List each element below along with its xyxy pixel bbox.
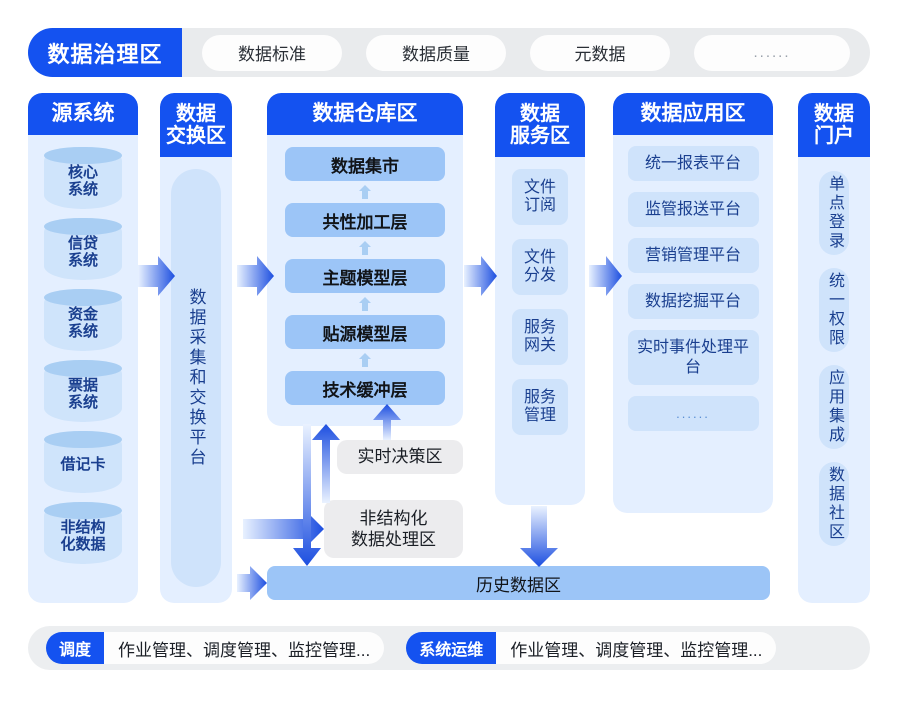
portal-item-app-integration[interactable]: 应用集成 <box>819 365 849 449</box>
arrow-up-to-warehouse-left <box>312 424 340 503</box>
portal-item-unified-permission[interactable]: 统一权限 <box>819 268 849 352</box>
app-item-data-mining-platform[interactable]: 数据挖掘平台 <box>628 284 759 319</box>
zone-application-title: 数据应用区 <box>613 93 773 135</box>
box-realtime-decision[interactable]: 实时决策区 <box>337 440 463 474</box>
up-arrow-icon <box>359 297 371 311</box>
zone-data-exchange: 数据 交换区 数据采集和交换平台 <box>160 93 232 603</box>
warehouse-layer-data-mart[interactable]: 数据集市 <box>285 147 445 181</box>
history-data-bar[interactable]: 历史数据区 <box>267 566 770 600</box>
zone-source-systems: 源系统 核心 系统 信贷 系统 资金 系统 票据 系统 借记卡 非结构 化数据 <box>28 93 138 603</box>
exchange-platform-label: 数据采集和交换平台 <box>184 288 209 468</box>
app-item-more[interactable]: ...... <box>628 396 759 431</box>
bottom-ops-bar: 调度 作业管理、调度管理、监控管理... 系统运维 作业管理、调度管理、监控管理… <box>28 626 870 670</box>
up-arrow-icon <box>359 185 371 199</box>
application-item-list: 统一报表平台 监管报送平台 营销管理平台 数据挖掘平台 实时事件处理平台 ...… <box>613 135 773 431</box>
diagram-canvas: 数据治理区 数据标准 数据质量 元数据 ...... 源系统 核心 系统 信贷 … <box>0 0 902 701</box>
warehouse-layer-source-model[interactable]: 贴源模型层 <box>285 315 445 349</box>
zone-data-warehouse: 数据仓库区 数据集市 共性加工层 主题模型层 贴源模型层 技术缓冲层 <box>267 93 463 426</box>
zone-exchange-title: 数据 交换区 <box>160 93 232 157</box>
bottom-text-system-ops: 作业管理、调度管理、监控管理... <box>496 632 776 664</box>
governance-items: 数据标准 数据质量 元数据 ...... <box>182 35 870 71</box>
governance-item-metadata[interactable]: 元数据 <box>530 35 670 71</box>
source-item-core-label: 核心 系统 <box>68 165 98 199</box>
portal-item-unified-permission-label: 统一权限 <box>822 272 846 348</box>
warehouse-layer-common-processing[interactable]: 共性加工层 <box>285 203 445 237</box>
zone-service-title: 数据 服务区 <box>495 93 585 157</box>
source-item-unstructured-data[interactable]: 非结构 化数据 <box>44 502 122 564</box>
service-item-file-distribution[interactable]: 文件 分发 <box>512 239 568 295</box>
bottom-text-scheduling: 作业管理、调度管理、监控管理... <box>104 632 384 664</box>
source-item-bills-label: 票据 系统 <box>68 378 98 412</box>
warehouse-layer-list: 数据集市 共性加工层 主题模型层 贴源模型层 技术缓冲层 <box>267 135 463 415</box>
service-item-service-management[interactable]: 服务 管理 <box>512 379 568 435</box>
portal-item-data-community[interactable]: 数据社区 <box>819 462 849 546</box>
source-item-credit-label: 信贷 系统 <box>68 236 98 270</box>
app-item-regulatory-reporting-platform[interactable]: 监管报送平台 <box>628 192 759 227</box>
arrow-exchange-to-history <box>237 566 267 600</box>
bottom-group-scheduling: 调度 作业管理、调度管理、监控管理... <box>46 632 384 664</box>
exchange-platform[interactable]: 数据采集和交换平台 <box>171 169 221 587</box>
portal-item-list: 单点登录 统一权限 应用集成 数据社区 <box>798 157 870 546</box>
bottom-group-system-ops: 系统运维 作业管理、调度管理、监控管理... <box>406 632 776 664</box>
source-item-funds-label: 资金 系统 <box>68 307 98 341</box>
app-item-unified-report-platform[interactable]: 统一报表平台 <box>628 146 759 181</box>
governance-bar: 数据治理区 数据标准 数据质量 元数据 ...... <box>28 28 870 77</box>
arrow-warehouse-to-service <box>464 256 497 296</box>
arrow-service-down-to-history <box>520 506 558 567</box>
service-item-list: 文件 订阅 文件 分发 服务 网关 服务 管理 <box>495 157 585 435</box>
source-item-funds[interactable]: 资金 系统 <box>44 289 122 351</box>
arrow-warehouse-down-to-history <box>293 424 321 566</box>
up-arrow-icon <box>359 241 371 255</box>
portal-item-single-sign-on[interactable]: 单点登录 <box>819 171 849 255</box>
zone-data-application: 数据应用区 统一报表平台 监管报送平台 营销管理平台 数据挖掘平台 实时事件处理… <box>613 93 773 513</box>
bottom-tag-system-ops[interactable]: 系统运维 <box>406 632 496 664</box>
box-unstructured-processing[interactable]: 非结构化 数据处理区 <box>324 500 463 558</box>
bottom-tag-scheduling[interactable]: 调度 <box>46 632 104 664</box>
app-item-realtime-event-platform[interactable]: 实时事件处理平台 <box>628 330 759 385</box>
governance-title: 数据治理区 <box>28 28 182 77</box>
zone-portal-title: 数据 门户 <box>798 93 870 157</box>
app-item-marketing-management-platform[interactable]: 营销管理平台 <box>628 238 759 273</box>
source-item-credit[interactable]: 信贷 系统 <box>44 218 122 280</box>
service-item-service-gateway[interactable]: 服务 网关 <box>512 309 568 365</box>
source-item-debit-card[interactable]: 借记卡 <box>44 431 122 493</box>
source-system-list: 核心 系统 信贷 系统 资金 系统 票据 系统 借记卡 非结构 化数据 <box>44 135 122 564</box>
zone-data-portal: 数据 门户 单点登录 统一权限 应用集成 数据社区 <box>798 93 870 603</box>
source-item-debit-card-label: 借记卡 <box>60 457 105 474</box>
source-item-bills[interactable]: 票据 系统 <box>44 360 122 422</box>
portal-item-single-sign-on-label: 单点登录 <box>822 175 846 251</box>
zone-data-service: 数据 服务区 文件 订阅 文件 分发 服务 网关 服务 管理 <box>495 93 585 505</box>
arrow-exchange-to-unstructured <box>243 510 324 548</box>
portal-item-app-integration-label: 应用集成 <box>822 369 846 445</box>
governance-item-data-standard[interactable]: 数据标准 <box>202 35 342 71</box>
warehouse-layer-subject-model[interactable]: 主题模型层 <box>285 259 445 293</box>
portal-item-data-community-label: 数据社区 <box>822 466 846 542</box>
service-item-file-subscription[interactable]: 文件 订阅 <box>512 169 568 225</box>
source-item-core[interactable]: 核心 系统 <box>44 147 122 209</box>
warehouse-layer-tech-buffer[interactable]: 技术缓冲层 <box>285 371 445 405</box>
up-arrow-icon <box>359 353 371 367</box>
governance-item-data-quality[interactable]: 数据质量 <box>366 35 506 71</box>
zone-warehouse-title: 数据仓库区 <box>267 93 463 135</box>
zone-source-title: 源系统 <box>28 93 138 135</box>
source-item-unstructured-data-label: 非结构 化数据 <box>60 520 105 554</box>
governance-item-more[interactable]: ...... <box>694 35 850 71</box>
